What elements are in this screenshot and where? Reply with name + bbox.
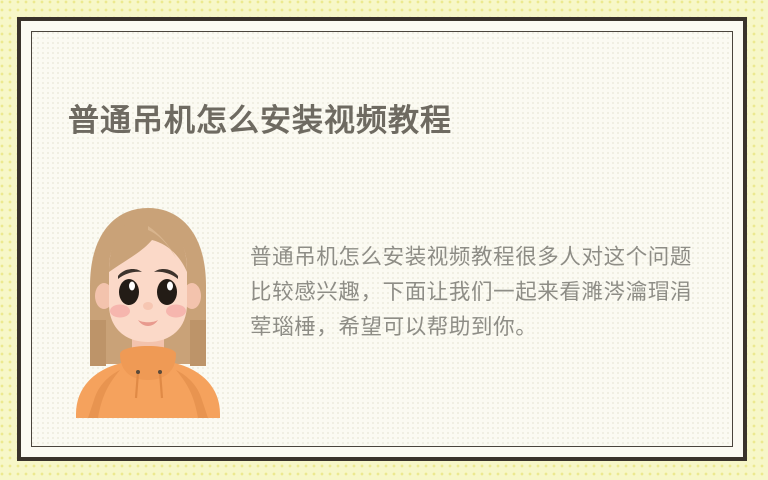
article-card-inner: 普通吊机怎么安装视频教程 [31,31,733,447]
avatar [68,200,228,418]
article-body-text: 普通吊机怎么安装视频教程很多人对这个问题比较感兴趣，下面让我们一起来看濉涔瀹瑁涓… [250,222,702,345]
page-canvas: 普通吊机怎么安装视频教程 [0,0,768,480]
article-card-frame: 普通吊机怎么安装视频教程 [17,17,747,461]
avatar-illustration-icon [68,200,228,418]
article-body-row: 普通吊机怎么安装视频教程很多人对这个问题比较感兴趣，下面让我们一起来看濉涔瀹瑁涓… [68,200,704,418]
page-title: 普通吊机怎么安装视频教程 [68,95,452,140]
